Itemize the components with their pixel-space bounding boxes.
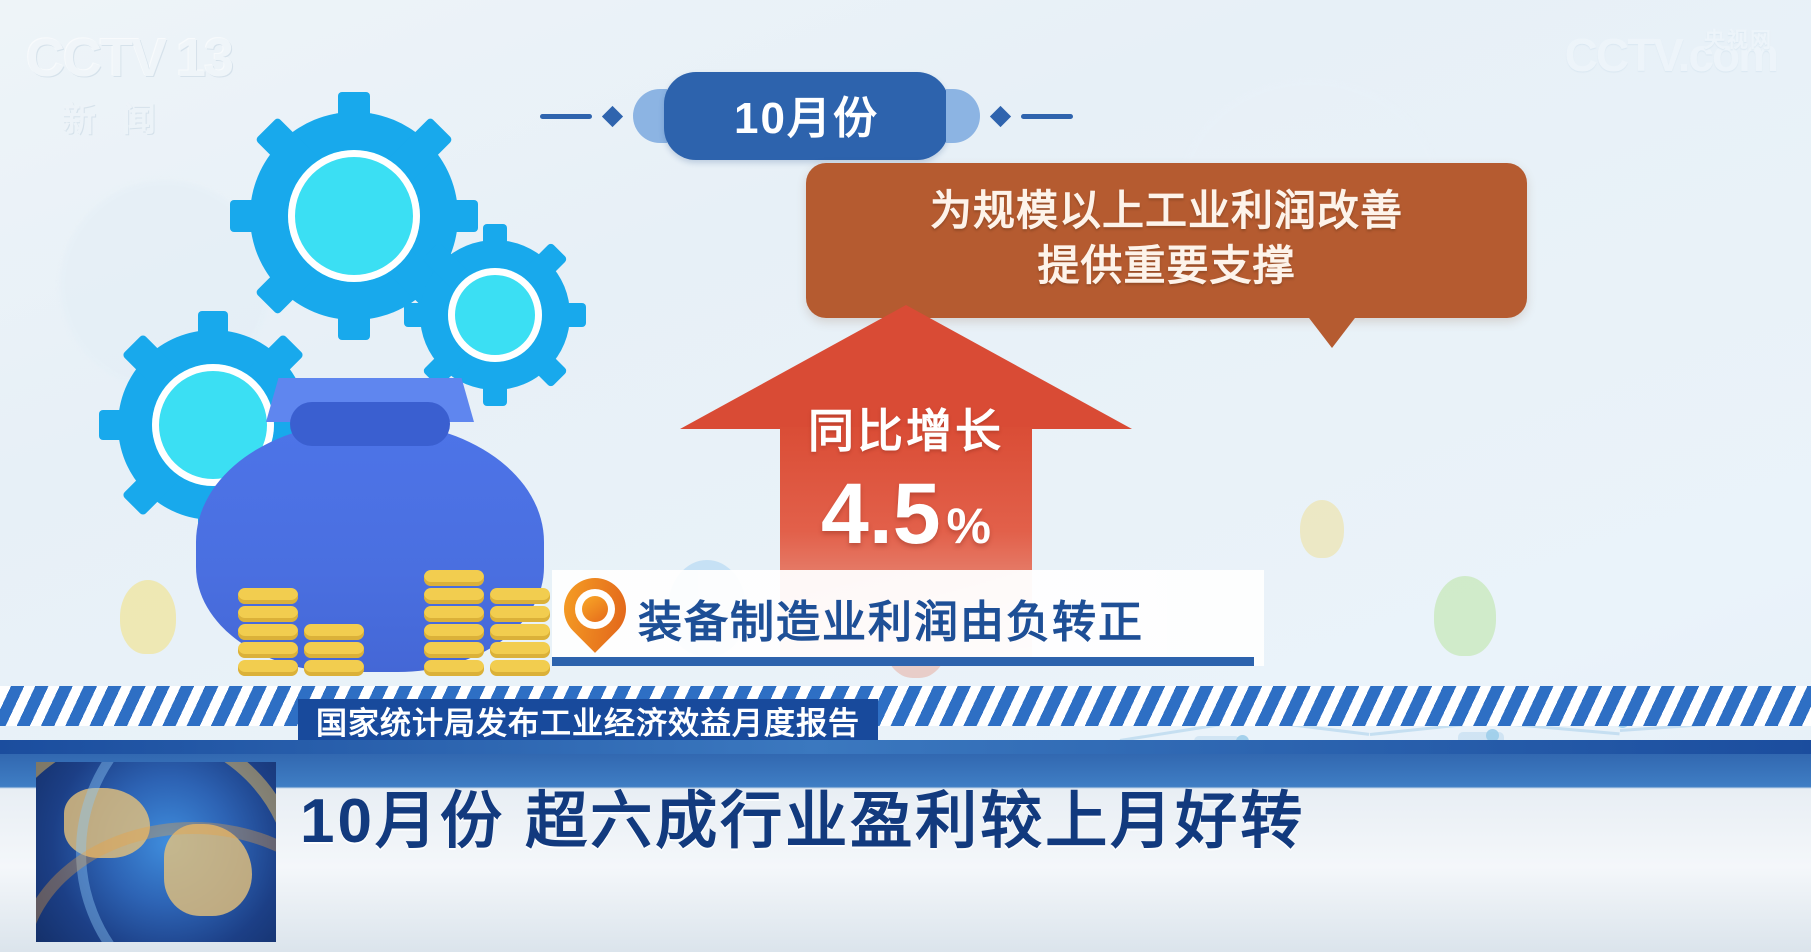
highlight-row-label: 装备制造业利润由负转正 xyxy=(638,586,1144,650)
gear-medium-icon xyxy=(420,240,570,390)
stripe-divider xyxy=(0,686,1811,726)
broadcast-frame: CCTV13 新闻 央视网 CCTV.com 10月份 为规模以上工业利润改善 … xyxy=(0,0,1811,952)
bg-balloon xyxy=(1300,500,1344,558)
pill-cap-left xyxy=(633,89,667,143)
pill-dash-decoration xyxy=(1021,114,1073,119)
location-pin-icon xyxy=(564,578,626,658)
callout-bubble: 为规模以上工业利润改善 提供重要支撑 xyxy=(806,163,1527,318)
cctv13-logo: CCTV13 新闻 xyxy=(26,28,276,143)
pill-diamond-decoration xyxy=(602,105,623,126)
watermark-chinese: 央视网 xyxy=(1704,24,1773,54)
headline-text: 10月份 超六成行业盈利较上月好转 xyxy=(300,770,1305,860)
topic-pill-label: 10月份 xyxy=(664,72,949,160)
logo-text: CCTV13 xyxy=(26,28,276,88)
pill-dash-decoration xyxy=(540,114,592,119)
callout-line-1: 为规模以上工业利润改善 xyxy=(830,183,1503,238)
headline-bar-top-edge xyxy=(0,740,1811,754)
kicker-bar: 国家统计局发布工业经济效益月度报告 xyxy=(298,699,878,741)
highlight-row: 装备制造业利润由负转正 xyxy=(552,570,1264,666)
logo-brand: CCTV xyxy=(26,28,165,88)
logo-channel-number: 13 xyxy=(165,28,243,88)
highlight-row-underline xyxy=(552,657,1254,666)
topic-pill-group: 10月份 xyxy=(540,72,1073,160)
arrow-stat-unit: % xyxy=(947,498,991,554)
logo-subtitle: 新闻 xyxy=(62,92,276,141)
arrow-stat-caption: 同比增长 xyxy=(680,395,1132,461)
globe-thumbnail xyxy=(36,762,276,942)
cctv-com-watermark: 央视网 CCTV.com xyxy=(1565,28,1777,82)
watermark-brand: CCTV xyxy=(1565,29,1678,81)
pill-diamond-decoration xyxy=(990,105,1011,126)
callout-line-2: 提供重要支撑 xyxy=(830,238,1503,293)
kicker-text: 国家统计局发布工业经济效益月度报告 xyxy=(316,698,860,743)
arrow-stat-text: 同比增长 4.5% xyxy=(680,395,1132,564)
pill-cap-right xyxy=(946,89,980,143)
arrow-stat-value-row: 4.5% xyxy=(680,465,1132,564)
callout-tail xyxy=(1306,314,1358,348)
arrow-stat-value: 4.5 xyxy=(821,466,941,562)
